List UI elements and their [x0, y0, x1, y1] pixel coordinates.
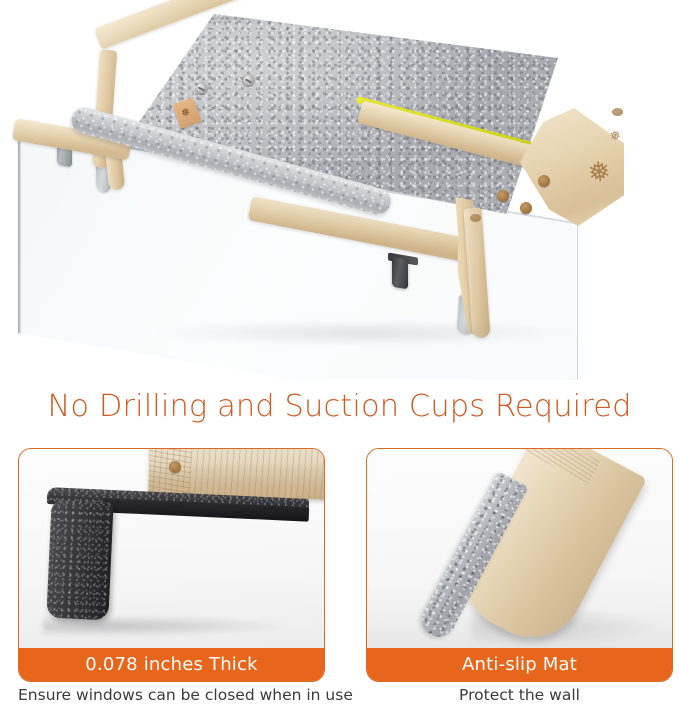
- screw: [243, 75, 254, 86]
- antislip-closeup-photo: [367, 449, 672, 650]
- wood-board-end-grain: [148, 449, 192, 498]
- mount-hole: [612, 108, 623, 116]
- panel-footnote: Protect the wall: [366, 686, 673, 704]
- panel-caption: Anti-slip Mat: [367, 648, 672, 681]
- screw: [169, 461, 181, 473]
- screw: [538, 175, 550, 187]
- mount-hole: [470, 214, 481, 222]
- hero-product-photo: ❅ ❅ ❅: [0, 0, 679, 380]
- black-metal-bracket: [46, 500, 113, 621]
- glass-left-edge: [18, 128, 21, 334]
- bracket-shadow: [43, 615, 293, 637]
- panel-footnote: Ensure windows can be closed when in use: [18, 686, 325, 704]
- paw-print-icon: ❅: [586, 158, 612, 188]
- paw-print-small-icon: ❅: [609, 129, 621, 143]
- panel-caption: 0.078 inches Thick: [19, 648, 324, 681]
- screw: [520, 202, 532, 214]
- feature-panel-antislip: Anti-slip Mat: [366, 448, 673, 682]
- product-shadow: [150, 320, 570, 346]
- mount-bracket-right: [392, 257, 408, 290]
- bracket-closeup-photo: [19, 449, 324, 650]
- screw: [196, 83, 207, 94]
- screw: [497, 190, 509, 202]
- bracket-texture: [46, 500, 113, 621]
- headline: No Drilling and Suction Cups Required: [0, 392, 679, 423]
- feature-panel-thickness: 0.078 inches Thick: [18, 448, 325, 682]
